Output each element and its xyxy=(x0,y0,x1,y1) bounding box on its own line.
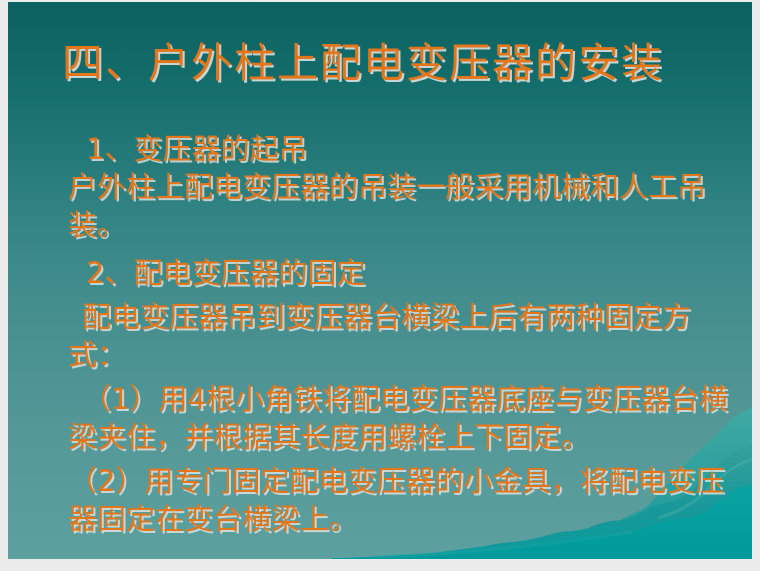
body-line-1: 1、变压器的起吊 xyxy=(68,130,740,168)
slide-body-block: 1、变压器的起吊 户外柱上配电变压器的吊装一般采用机械和人工吊装。 2、配电变压… xyxy=(68,130,740,538)
body-line-4: 配电变压器吊到变压器台横梁上后有两种固定方式： xyxy=(68,298,740,374)
body-line-3: 2、配电变压器的固定 xyxy=(68,254,740,292)
body-line-5: （1）用4根小角铁将配电变压器底座与变压器台横梁夹住，并根据其长度用螺栓上下固定… xyxy=(68,380,740,456)
slide-title-block: 四、户外柱上配电变压器的安装 xyxy=(62,38,732,89)
slide-canvas: 四、户外柱上配电变压器的安装 1、变压器的起吊 户外柱上配电变压器的吊装一般采用… xyxy=(8,2,752,559)
page-title: 四、户外柱上配电变压器的安装 xyxy=(62,38,732,89)
body-line-2: 户外柱上配电变压器的吊装一般采用机械和人工吊装。 xyxy=(68,168,740,244)
body-line-6: （2）用专门固定配电变压器的小金具，将配电变压器固定在变台横梁上。 xyxy=(68,462,740,538)
slide-page-frame: 四、户外柱上配电变压器的安装 1、变压器的起吊 户外柱上配电变压器的吊装一般采用… xyxy=(0,0,760,571)
